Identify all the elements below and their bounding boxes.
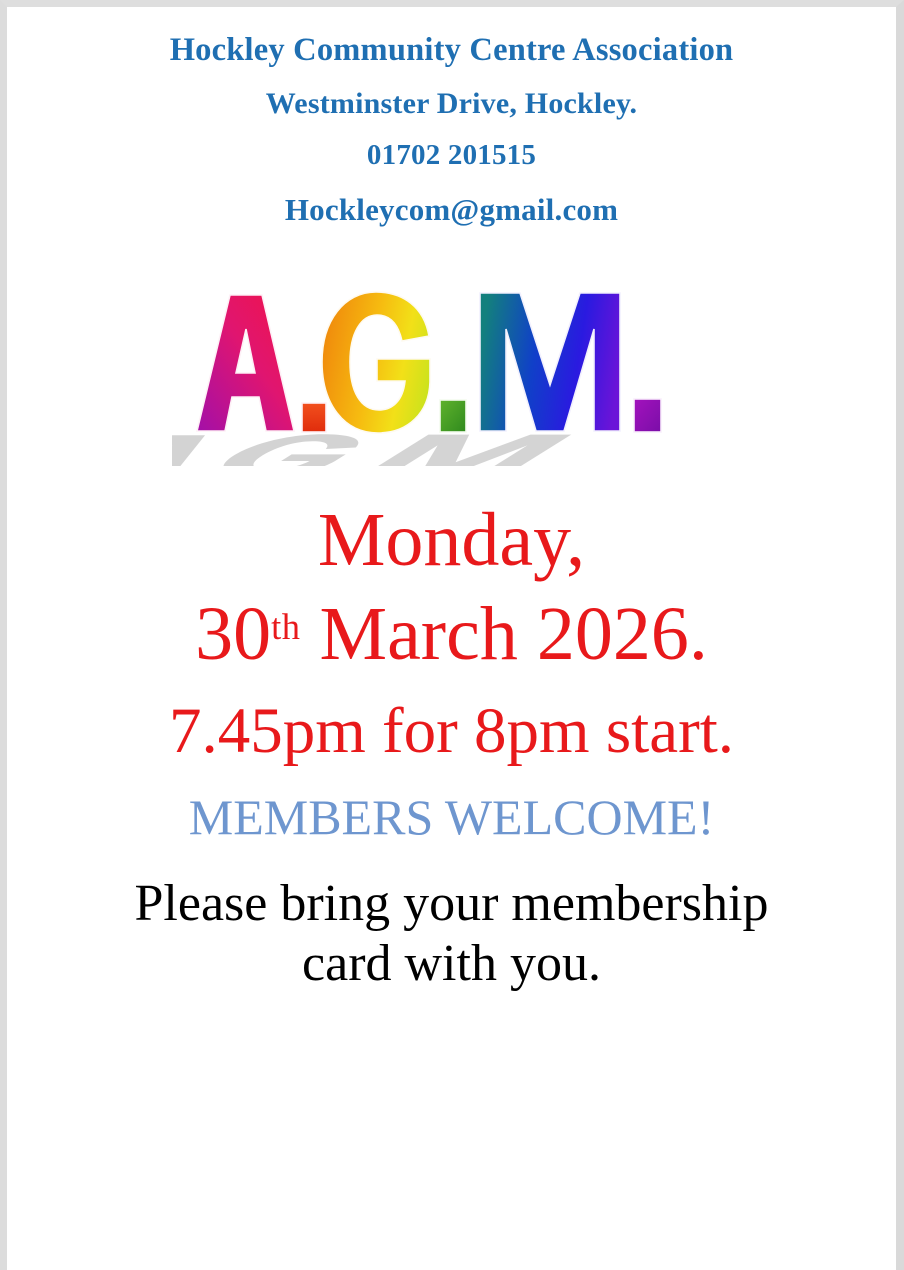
wordart-period-after-g xyxy=(440,400,466,432)
agm-wordart-svg xyxy=(172,281,732,466)
poster-sheet: Hockley Community Centre Association Wes… xyxy=(7,7,896,1270)
organisation-name: Hockley Community Centre Association xyxy=(7,34,896,67)
membership-card-note-line2: card with you. xyxy=(7,934,896,994)
wordart-shadow xyxy=(172,434,613,466)
wordart-period-after-m xyxy=(634,399,661,432)
event-date-rest: March 2026. xyxy=(301,592,708,676)
contact-phone: 01702 201515 xyxy=(7,141,896,170)
poster-page: Hockley Community Centre Association Wes… xyxy=(0,0,904,1270)
wordart-letter-m xyxy=(480,293,620,431)
members-welcome-text: MEMBERS WELCOME! xyxy=(7,791,896,844)
event-day: Monday, xyxy=(7,500,896,581)
wordart-letter-g xyxy=(322,292,430,433)
agm-wordart xyxy=(7,281,896,466)
wordart-letter-a xyxy=(197,295,294,431)
event-date-number: 30 xyxy=(195,592,271,676)
event-time: 7.45pm for 8pm start. xyxy=(7,697,896,766)
membership-card-note: Please bring your membership card with y… xyxy=(7,874,896,995)
event-date: 30th March 2026. xyxy=(7,594,896,675)
venue-address: Westminster Drive, Hockley. xyxy=(7,89,896,119)
wordart-letters xyxy=(197,292,661,433)
event-date-ordinal: th xyxy=(271,606,300,647)
membership-card-note-line1: Please bring your membership xyxy=(7,874,896,934)
wordart-period-after-a xyxy=(302,403,326,432)
contact-email: Hockleycom@gmail.com xyxy=(7,194,896,225)
event-details: Monday, 30th March 2026. 7.45pm for 8pm … xyxy=(7,500,896,766)
header-block: Hockley Community Centre Association Wes… xyxy=(7,7,896,225)
